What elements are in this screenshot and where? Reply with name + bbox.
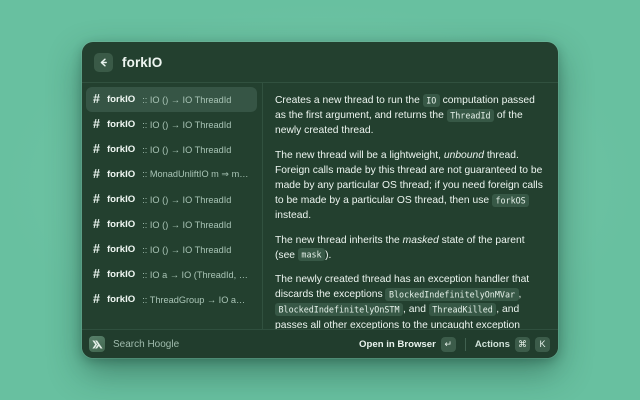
code-chip: ThreadId bbox=[447, 109, 494, 122]
code-chip: BlockedIndefinitelyOnMVar bbox=[385, 288, 518, 301]
window-titlebar: forkIO bbox=[82, 42, 558, 83]
doc-text: , and bbox=[403, 304, 429, 315]
result-signature: :: IO () → IO ThreadId bbox=[142, 195, 231, 205]
code-chip: ThreadKilled bbox=[429, 303, 497, 316]
documentation-pane[interactable]: Creates a new thread to run the IO compu… bbox=[263, 83, 558, 329]
doc-paragraph-3: The new thread inherits the masked state… bbox=[275, 233, 545, 263]
result-signature: :: IO () → IO ThreadId bbox=[142, 95, 231, 105]
hash-icon: # bbox=[93, 143, 100, 156]
hash-icon: # bbox=[93, 268, 100, 281]
list-item[interactable]: # forkIO :: IO () → IO ThreadId bbox=[86, 187, 257, 212]
doc-paragraph-4: The newly created thread has an exceptio… bbox=[275, 272, 545, 329]
result-signature: :: IO a → IO (ThreadId, I… bbox=[142, 270, 250, 280]
doc-emphasis: unbound bbox=[444, 150, 484, 161]
window-body: # forkIO :: IO () → IO ThreadId # forkIO… bbox=[82, 83, 558, 329]
doc-paragraph-1: Creates a new thread to run the IO compu… bbox=[275, 93, 545, 139]
result-name: forkIO bbox=[107, 169, 135, 180]
result-name: forkIO bbox=[107, 269, 135, 280]
result-name: forkIO bbox=[107, 219, 135, 230]
hash-icon: # bbox=[93, 168, 100, 181]
list-item[interactable]: # forkIO :: MonadUnliftIO m ⇒ m… bbox=[86, 162, 257, 187]
code-chip: IO bbox=[423, 94, 440, 107]
result-name: forkIO bbox=[107, 144, 135, 155]
command-key-icon[interactable]: ⌘ bbox=[515, 337, 530, 352]
hash-icon: # bbox=[93, 293, 100, 306]
result-signature: :: IO () → IO ThreadId bbox=[142, 145, 231, 155]
doc-text: Creates a new thread to run the bbox=[275, 95, 423, 106]
doc-text: , bbox=[519, 289, 522, 300]
result-signature: :: IO () → IO ThreadId bbox=[142, 120, 231, 130]
code-chip: mask bbox=[298, 248, 325, 261]
doc-paragraph-2: The new thread will be a lightweight, un… bbox=[275, 148, 545, 224]
result-name: forkIO bbox=[107, 294, 135, 305]
code-chip: forkOS bbox=[492, 194, 529, 207]
hash-icon: # bbox=[93, 193, 100, 206]
k-key-icon[interactable]: K bbox=[535, 337, 550, 352]
list-item[interactable]: # forkIO :: IO () → IO ThreadId bbox=[86, 137, 257, 162]
doc-text: The new thread will be a lightweight, bbox=[275, 150, 444, 161]
open-in-browser-label: Open in Browser bbox=[359, 339, 436, 350]
enter-key-icon[interactable]: ↵ bbox=[441, 337, 456, 352]
list-item[interactable]: # forkIO :: IO () → IO ThreadId bbox=[86, 112, 257, 137]
results-list[interactable]: # forkIO :: IO () → IO ThreadId # forkIO… bbox=[82, 83, 263, 329]
doc-text: The new thread inherits the bbox=[275, 235, 403, 246]
code-chip: BlockedIndefinitelyOnSTM bbox=[275, 303, 403, 316]
footer-bar: Open in Browser ↵ Actions ⌘ K bbox=[82, 329, 558, 358]
result-name: forkIO bbox=[107, 244, 135, 255]
list-item[interactable]: # forkIO :: ThreadGroup → IO a… bbox=[86, 287, 257, 312]
result-name: forkIO bbox=[107, 94, 135, 105]
search-input[interactable] bbox=[113, 339, 351, 350]
hash-icon: # bbox=[93, 218, 100, 231]
haskell-logo-icon[interactable] bbox=[89, 336, 105, 352]
result-name: forkIO bbox=[107, 119, 135, 130]
page-title: forkIO bbox=[122, 55, 162, 70]
doc-emphasis: masked bbox=[403, 235, 439, 246]
list-item[interactable]: # forkIO :: IO () → IO ThreadId bbox=[86, 87, 257, 112]
hash-icon: # bbox=[93, 93, 100, 106]
actions-label: Actions bbox=[475, 339, 510, 350]
list-item[interactable]: # forkIO :: IO () → IO ThreadId bbox=[86, 212, 257, 237]
list-item[interactable]: # forkIO :: IO a → IO (ThreadId, I… bbox=[86, 262, 257, 287]
back-button[interactable] bbox=[94, 53, 113, 72]
result-name: forkIO bbox=[107, 194, 135, 205]
hash-icon: # bbox=[93, 118, 100, 131]
hash-icon: # bbox=[93, 243, 100, 256]
result-signature: :: MonadUnliftIO m ⇒ m… bbox=[142, 169, 248, 180]
open-in-browser-button[interactable]: Open in Browser ↵ bbox=[359, 337, 456, 352]
hoogle-window: forkIO # forkIO :: IO () → IO ThreadId #… bbox=[82, 42, 558, 358]
result-signature: :: IO () → IO ThreadId bbox=[142, 220, 231, 230]
doc-text: ). bbox=[325, 250, 331, 261]
result-signature: :: IO () → IO ThreadId bbox=[142, 245, 231, 255]
arrow-left-icon bbox=[98, 57, 109, 68]
result-signature: :: ThreadGroup → IO a… bbox=[142, 295, 245, 305]
footer-divider bbox=[465, 338, 466, 351]
list-item[interactable]: # forkIO :: IO () → IO ThreadId bbox=[86, 237, 257, 262]
actions-button[interactable]: Actions ⌘ K bbox=[475, 337, 550, 352]
doc-text: instead. bbox=[275, 210, 311, 221]
